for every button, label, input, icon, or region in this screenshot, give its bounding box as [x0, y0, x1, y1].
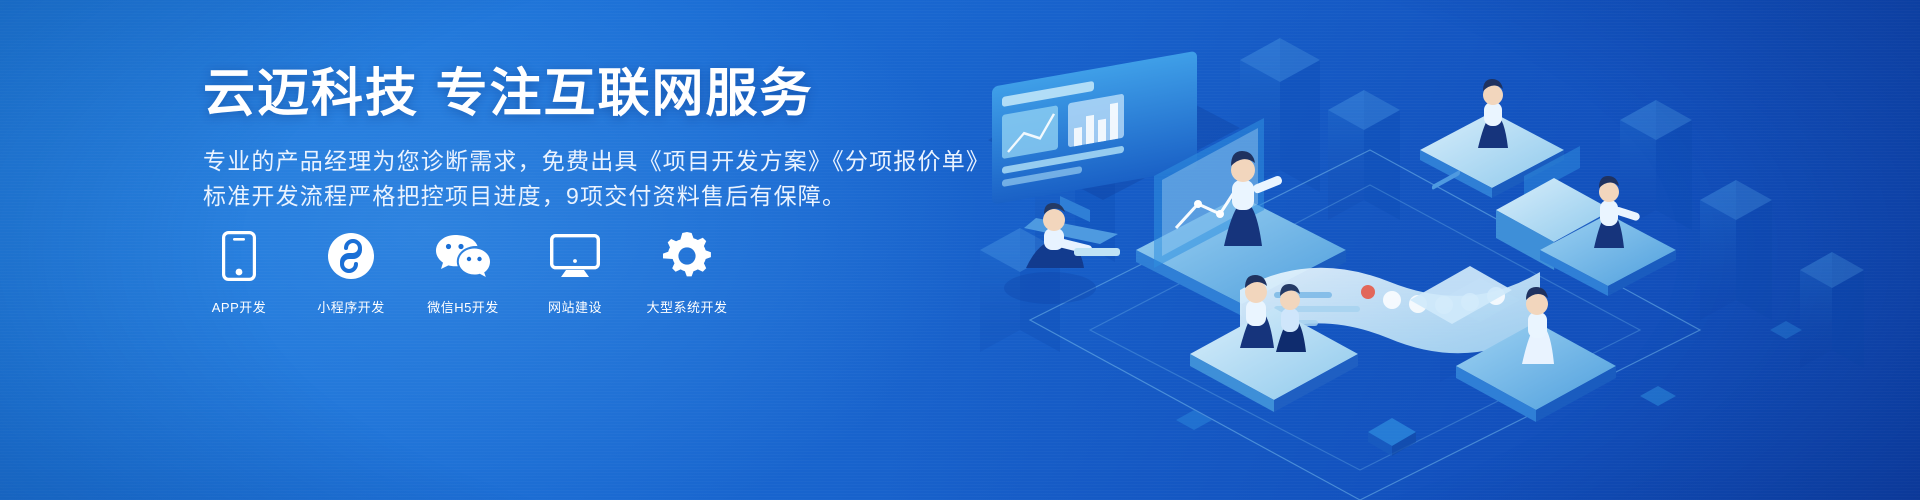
service-label: 小程序开发	[317, 297, 385, 316]
page-title: 云迈科技 专注互联网服务	[203, 64, 1103, 124]
service-item-wechat-h5[interactable]: 微信H5开发	[427, 230, 499, 316]
hero-subtitle: 专业的产品经理为您诊断需求，免费出具《项目开发方案》《分项报价单》 标准开发流程…	[203, 144, 1103, 214]
service-item-website[interactable]: 网站建设	[539, 230, 611, 316]
service-label: APP开发	[212, 297, 267, 316]
service-list: APP开发 小程序开发	[203, 230, 723, 316]
service-label: 微信H5开发	[427, 297, 499, 316]
service-item-large-system[interactable]: 大型系统开发	[651, 230, 723, 316]
gear-icon	[663, 230, 711, 282]
monitor-icon	[550, 230, 600, 282]
service-label: 网站建设	[548, 297, 602, 316]
wechat-icon	[435, 230, 491, 282]
mobile-phone-icon	[222, 230, 256, 282]
mini-program-icon	[327, 230, 375, 282]
hero-copy: 云迈科技 专注互联网服务 专业的产品经理为您诊断需求，免费出具《项目开发方案》《…	[203, 64, 1103, 214]
subtitle-line-2: 标准开发流程严格把控项目进度，9项交付资料售后有保障。	[203, 179, 1103, 214]
service-label: 大型系统开发	[647, 297, 728, 316]
service-item-app[interactable]: APP开发	[203, 230, 275, 316]
hero-banner: 云迈科技 专注互联网服务 专业的产品经理为您诊断需求，免费出具《项目开发方案》《…	[0, 0, 1920, 500]
service-item-miniprogram[interactable]: 小程序开发	[315, 230, 387, 316]
subtitle-line-1: 专业的产品经理为您诊断需求，免费出具《项目开发方案》《分项报价单》	[203, 148, 990, 174]
person-upper-right	[1478, 79, 1508, 148]
